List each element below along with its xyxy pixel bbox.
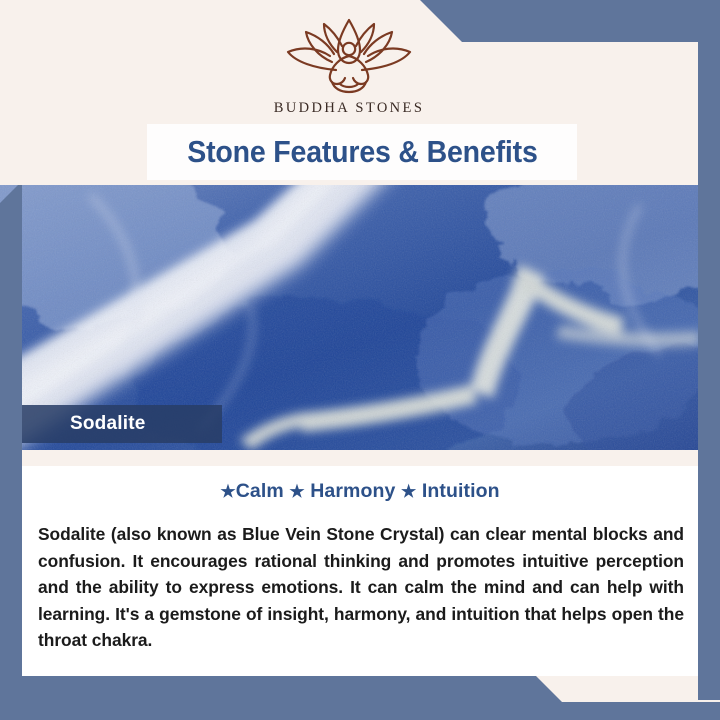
stone-name-text: Sodalite (70, 413, 146, 435)
brand-logo: BUDDHA STONES (0, 18, 698, 117)
feature-keyword-calm: Calm (236, 480, 284, 502)
brand-name: BUDDHA STONES (274, 100, 425, 117)
feature-keyword-intuition: Intuition (422, 480, 500, 502)
page-title-band: Stone Features & Benefits (147, 124, 577, 180)
frame-right-border-band (698, 0, 720, 700)
star-icon: ★ (220, 482, 235, 501)
feature-keyword-harmony: Harmony (310, 480, 395, 502)
stone-description: Sodalite (also known as Blue Vein Stone … (38, 521, 684, 654)
content-panel: ★Calm ★ Harmony ★ Intuition Sodalite (al… (22, 466, 698, 676)
lotus-meditation-icon (274, 18, 424, 98)
stone-info-poster: Sodalite (0, 0, 720, 720)
feature-keywords: ★Calm ★ Harmony ★ Intuition (22, 480, 698, 503)
frame-left-border-band (0, 185, 22, 675)
panel-top-strip (22, 450, 698, 466)
stone-name-label: Sodalite (22, 405, 222, 443)
star-icon: ★ (401, 482, 416, 501)
poster-header: BUDDHA STONES Stone Features & Benefits (0, 0, 698, 186)
star-icon: ★ (289, 482, 304, 501)
page-title: Stone Features & Benefits (187, 134, 537, 170)
